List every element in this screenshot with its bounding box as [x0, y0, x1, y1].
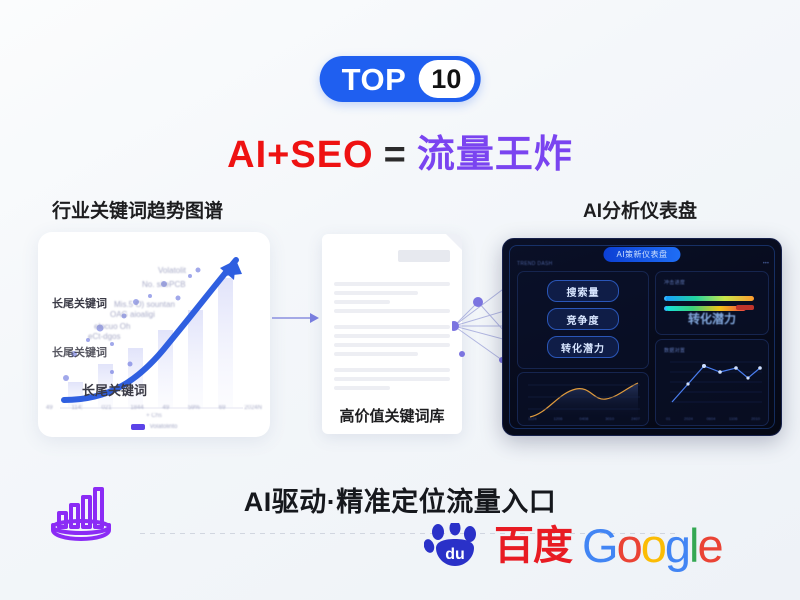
dashboard-menu-icon[interactable]: ••• [763, 261, 769, 267]
svg-text:du: du [445, 546, 465, 563]
x-tick-6: 69 [219, 405, 226, 411]
x-tick-1: 114; [71, 405, 82, 411]
doc-line [334, 368, 450, 372]
axis-tick: 0604 [706, 416, 715, 421]
doc-line [334, 334, 450, 338]
doc-line [334, 343, 450, 347]
doc-line [334, 325, 450, 329]
doc-caption: 高价值关键词库 [322, 405, 462, 426]
right-section-caption: AI分析仪表盘 [583, 196, 697, 223]
slide-canvas: TOP 10 AI+SEO=流量王炸 行业关键词趋势图谱 AI分析仪表盘 [0, 0, 800, 600]
chart-x-label: + Chs [146, 413, 162, 419]
top-label: TOP [342, 64, 419, 95]
axis-tick: 1124 [528, 416, 537, 421]
x-tick-0: 49 [46, 405, 53, 411]
line-chart-panel: 数据对置 01 2024 0604 1106 2010 [655, 339, 769, 426]
google-letter-o1: o [617, 519, 641, 572]
dashboard-subtitle: TREND DASH [517, 261, 553, 267]
x-tick-7: 2024N [244, 405, 262, 411]
dashboard-header-badge: AI策新仪表盘 [603, 247, 680, 262]
doc-line [334, 352, 418, 356]
top-rank-badge: TOP 10 [320, 56, 481, 102]
left-section-caption: 行业关键词趋势图谱 [52, 196, 223, 223]
blurred-term-6: eCt-dgos [88, 332, 120, 341]
bar-chart-icon [45, 483, 119, 543]
chart-legend: Volatolinto [38, 424, 270, 430]
google-wordmark: Google [582, 522, 722, 569]
doc-line [334, 377, 450, 381]
axis-tick: 1206 [554, 416, 563, 421]
keyword-trend-card: 长尾关键词 长尾关键词 长尾关键词 Volatolit No. sitePCB … [38, 232, 270, 437]
page-title: AI+SEO=流量王炸 [0, 123, 800, 178]
metric-pill-conversion[interactable]: 转化潜力 [547, 336, 619, 358]
blurred-term-2: No. sitePCB [142, 280, 186, 289]
alert-chip [736, 305, 754, 310]
x-tick-3: 1844 [130, 405, 143, 411]
google-letter-e: e [697, 519, 721, 572]
baidu-wordmark: 百度 [494, 526, 572, 566]
doc-text-lines [334, 282, 450, 395]
axis-tick: 2024 [684, 416, 693, 421]
axis-tick: 3010 [605, 416, 614, 421]
doc-line [334, 291, 418, 295]
area-chart-panel: 1124 1206 0408 3010 2407 [517, 372, 649, 426]
axis-tick: 2407 [631, 416, 640, 421]
metrics-panel: 搜索量 竞争度 转化潜力 [517, 271, 649, 369]
doc-line [334, 282, 450, 286]
doc-header-block [398, 250, 450, 262]
x-tick-4: 49 [162, 405, 169, 411]
axis-tick: 0408 [579, 416, 588, 421]
google-letter-o2: o [641, 519, 665, 572]
title-left: AI+SEO [227, 134, 373, 176]
blurred-term-5: elocuo Oh [94, 322, 130, 331]
ai-dashboard-card: AI策新仪表盘 TREND DASH ••• 搜索量 竞争度 转化潜力 [502, 238, 782, 436]
axis-tick: 01 [666, 416, 670, 421]
keyword-label-3: 长尾关键词 [82, 380, 147, 399]
google-letter-g: G [582, 519, 617, 572]
keyword-library-card: 高价值关键词库 [322, 234, 462, 434]
legend-label: Volatolinto [150, 424, 178, 430]
google-letter-g2: g [665, 519, 689, 572]
progress-panel-title: 冲击进度 [664, 279, 685, 286]
blurred-term-1: Volatolit [158, 266, 186, 275]
blurred-term-3: Mis.5 O) sountan [114, 300, 175, 309]
flow-arrow-icon [272, 310, 320, 326]
conversion-overlay-label: 转化潜力 [688, 310, 736, 327]
title-right: 流量王炸 [417, 134, 573, 176]
axis-tick: 2010 [751, 416, 760, 421]
chart-x-axis: 49 114; 021 1844 49 59% 69 2024N [46, 405, 262, 411]
axis-tick: 1106 [729, 416, 738, 421]
doc-line [334, 300, 390, 304]
page-fold-icon [446, 234, 462, 250]
line-chart-axis: 01 2024 0604 1106 2010 [666, 416, 760, 421]
line-chart-title: 数据对置 [664, 347, 685, 354]
metric-pill-search-volume[interactable]: 搜索量 [547, 280, 619, 302]
bottom-tagline: AI驱动·精准定位流量入口 [0, 480, 800, 519]
search-engine-logos: du 百度 Google [424, 522, 722, 569]
x-tick-5: 59% [188, 405, 200, 411]
top-number: 10 [418, 60, 474, 98]
metric-pill-competition[interactable]: 竞争度 [547, 308, 619, 330]
x-tick-2: 021 [102, 405, 112, 411]
progress-panel: 冲击进度 转化潜力 [655, 271, 769, 335]
trend-chart: 长尾关键词 长尾关键词 长尾关键词 Volatolit No. sitePCB … [38, 232, 270, 437]
baidu-paw-icon: du [424, 523, 488, 569]
doc-line [334, 309, 450, 313]
keyword-label-2: 长尾关键词 [52, 344, 107, 360]
doc-line [334, 386, 390, 390]
keyword-label-1: 长尾关键词 [52, 295, 107, 311]
blurred-term-4: OAG aioaligi [110, 310, 155, 319]
area-chart-axis: 1124 1206 0408 3010 2407 [528, 416, 640, 421]
title-equals: = [384, 134, 407, 176]
progress-bar-1 [666, 296, 754, 301]
legend-swatch [131, 424, 145, 430]
